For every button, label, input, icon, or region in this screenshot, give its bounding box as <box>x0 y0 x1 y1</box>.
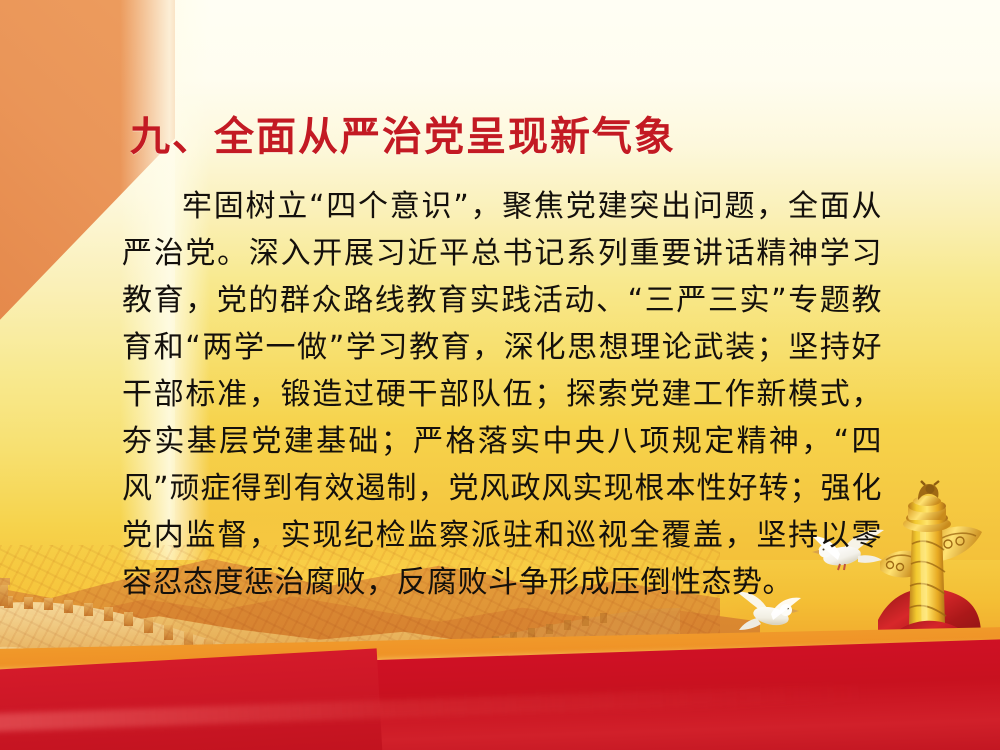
page-title: 九、全面从严治党呈现新气象 <box>130 104 676 162</box>
diagonal-band-cream <box>0 0 401 60</box>
bottom-ribbon-red-left <box>0 648 383 750</box>
huabiao-column-icon <box>868 470 986 680</box>
slide-canvas: 九、全面从严治党呈现新气象 牢固树立“四个意识”，聚焦党建突出问题，全面从严治党… <box>0 0 1000 750</box>
bottom-ribbon-gold-highlight <box>0 656 1000 694</box>
bottom-ribbon-orange <box>0 627 1000 684</box>
bottom-ribbon-red <box>0 638 1000 750</box>
bottom-ribbon-red-highlight <box>0 678 1000 733</box>
bottom-ribbon-gold <box>0 644 1000 712</box>
body-paragraph: 牢固树立“四个意识”，聚焦党建突出问题，全面从严治党。深入开展习近平总书记系列重… <box>122 183 882 606</box>
